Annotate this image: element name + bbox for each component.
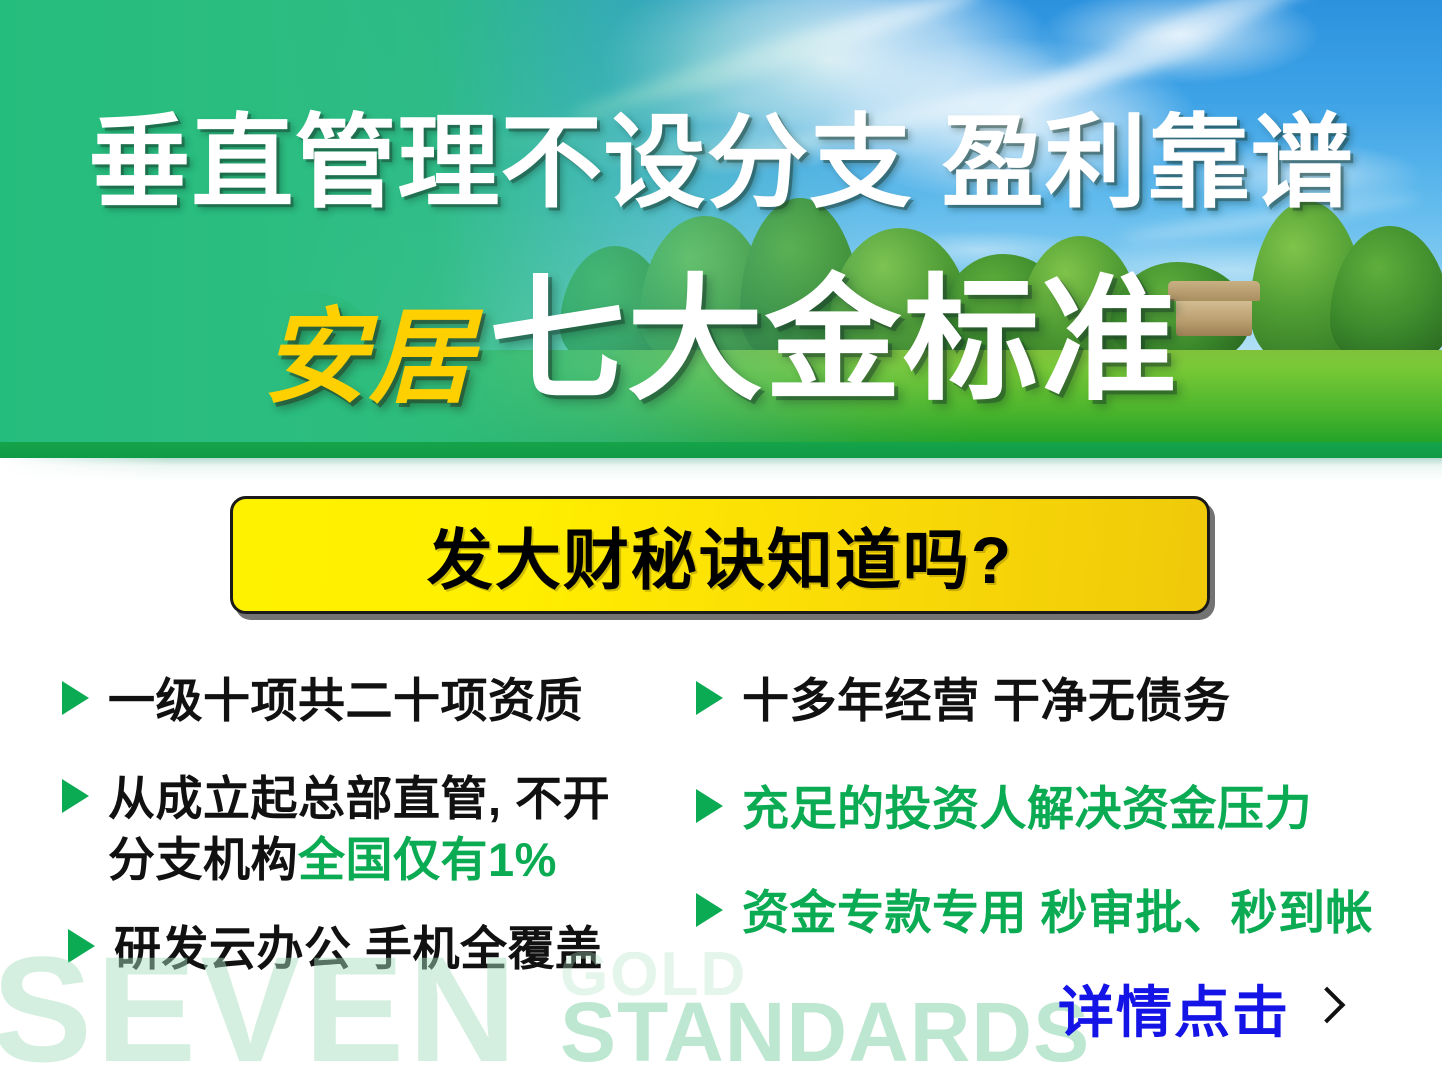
details-link-label: 详情点击: [1058, 968, 1290, 1049]
hero-section: 垂直管理不设分支 盈利靠谱 安居七大金标准: [0, 0, 1442, 458]
hero-headline-emphasis: 七大金标准: [489, 264, 1179, 416]
hero-headline-secondary: 安居七大金标准: [0, 272, 1442, 408]
hero-headline-primary: 垂直管理不设分支 盈利靠谱: [0, 112, 1442, 214]
list-item: 十多年经营 干净无债务: [696, 670, 1231, 731]
triangle-bullet-icon: [62, 779, 89, 813]
triangle-bullet-icon: [696, 893, 723, 927]
list-item-label: 资金专款专用 秒审批、秒到帐: [742, 882, 1373, 943]
list-item: 充足的投资人解决资金压力: [696, 778, 1312, 839]
list-item-label: 研发云办公 手机全覆盖: [114, 918, 603, 979]
list-item: 从成立起总部直管, 不开 分支机构全国仅有1%: [62, 768, 610, 890]
list-item-line2: 分支机构全国仅有1%: [108, 829, 610, 890]
list-item: 资金专款专用 秒审批、秒到帐: [696, 882, 1373, 943]
list-item-label: 从成立起总部直管, 不开 分支机构全国仅有1%: [108, 768, 610, 890]
highlight-banner-text: 发大财秘诀知道吗?: [427, 507, 1013, 603]
list-item-line1: 从成立起总部直管, 不开: [108, 768, 610, 829]
highlight-banner[interactable]: 发大财秘诀知道吗?: [230, 496, 1210, 614]
triangle-bullet-icon: [696, 681, 723, 715]
hero-bottom-band: [0, 442, 1442, 458]
chevron-right-icon: [1312, 986, 1338, 1032]
watermark-standards: STANDARDS: [560, 990, 1090, 1066]
hero-brand-name: 安居: [263, 300, 475, 416]
list-item-label: 充足的投资人解决资金压力: [742, 778, 1312, 839]
list-item: 一级十项共二十项资质: [62, 670, 583, 731]
triangle-bullet-icon: [696, 789, 723, 823]
triangle-bullet-icon: [62, 681, 89, 715]
triangle-bullet-icon: [68, 929, 95, 963]
details-link[interactable]: 详情点击: [1058, 968, 1338, 1049]
list-item-line2-highlight: 全国仅有1%: [298, 833, 557, 886]
list-item: 研发云办公 手机全覆盖: [68, 918, 603, 979]
hero-drop-shadow: [0, 458, 1442, 480]
list-item-label: 十多年经营 干净无债务: [742, 670, 1231, 731]
feature-list: 一级十项共二十项资质 从成立起总部直管, 不开 分支机构全国仅有1% 研发云办公…: [0, 660, 1442, 990]
list-item-line2-plain: 分支机构: [108, 833, 298, 886]
advertisement-banner: 垂直管理不设分支 盈利靠谱 安居七大金标准 发大财秘诀知道吗? 一级十项共二十项…: [0, 0, 1442, 1066]
list-item-label: 一级十项共二十项资质: [108, 670, 583, 731]
